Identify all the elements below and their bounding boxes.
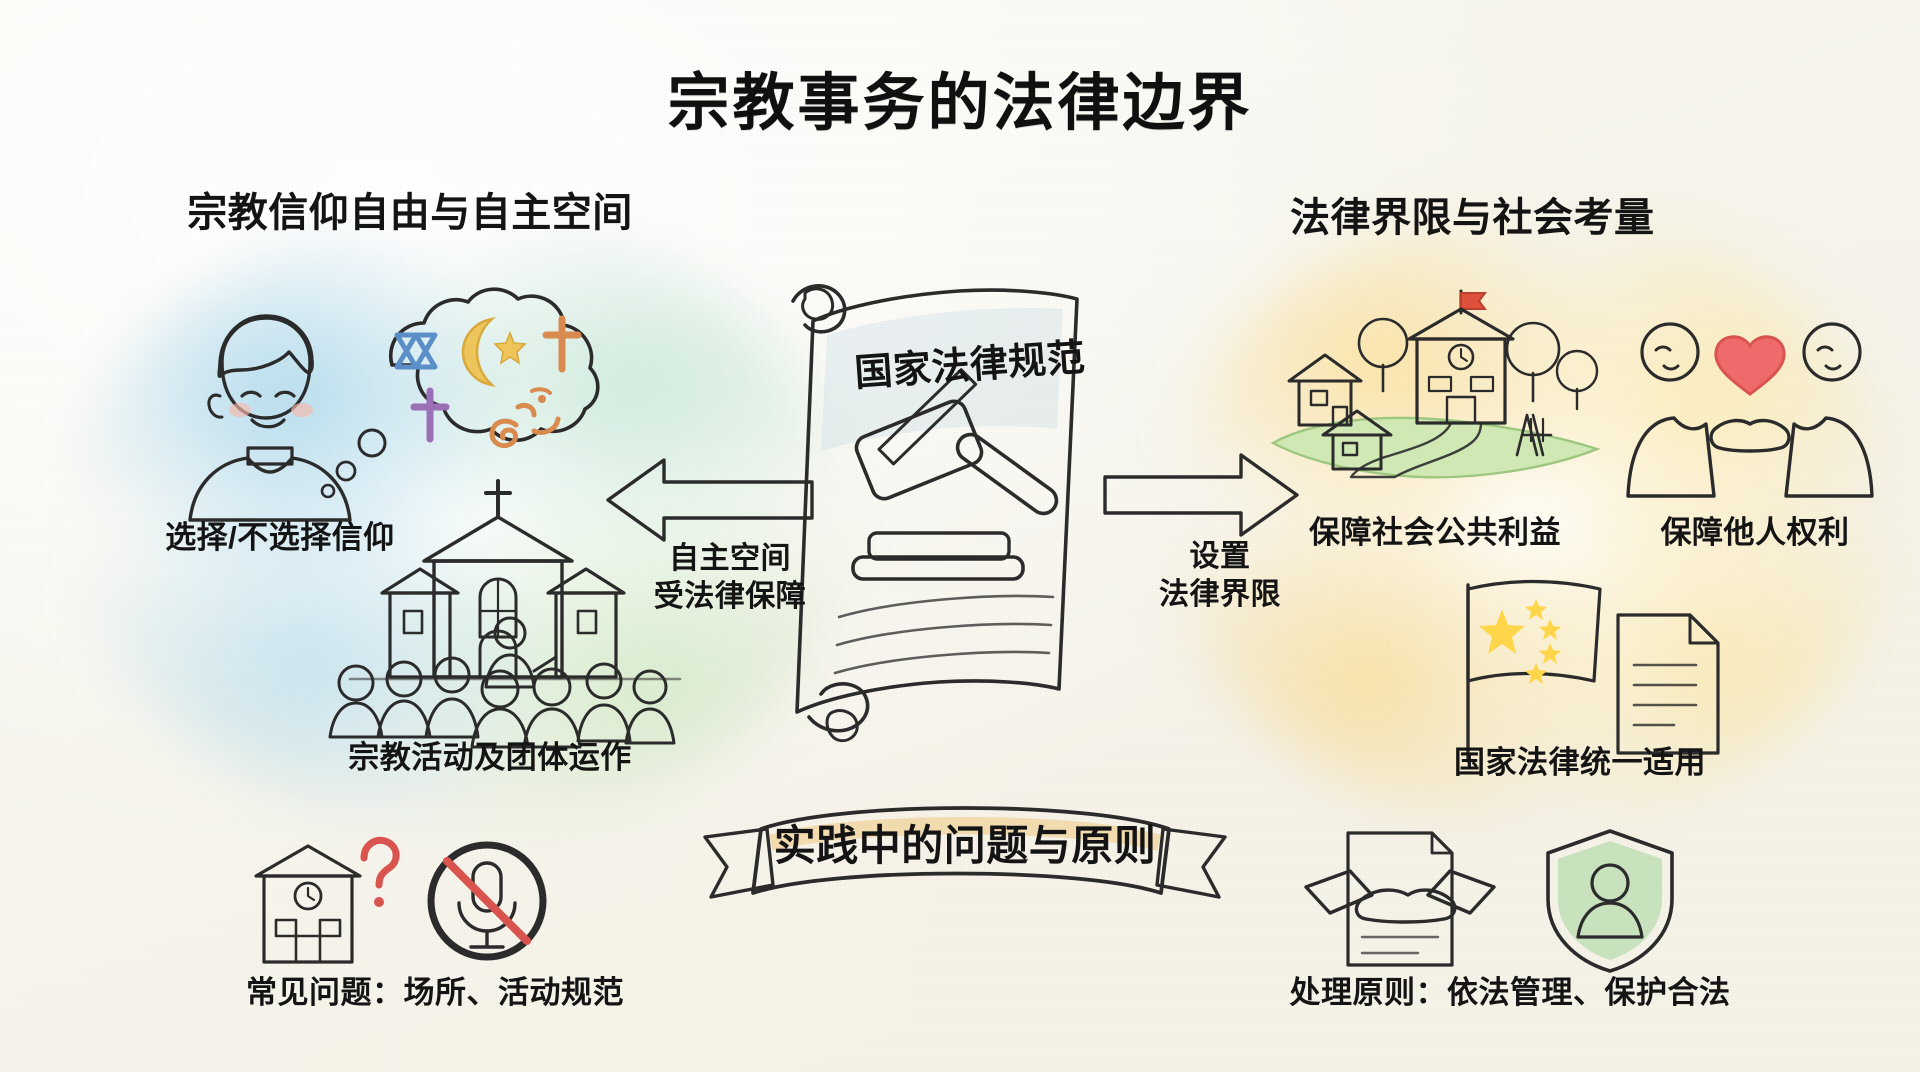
tree-icon-3 [1557, 351, 1597, 409]
congregation-group [330, 658, 674, 747]
left-arrow-label: 自主空间 受法律保障 [630, 540, 830, 615]
infographic-canvas: 宗教事务的法律边界 宗教信仰自由与自主空间 法律界限与社会考量 [0, 0, 1920, 1072]
heart-icon [1716, 337, 1784, 394]
banner-label: 实践中的问题与原则 [720, 822, 1210, 870]
question-mark-icon [364, 840, 396, 907]
handshake-heart-icon [1620, 310, 1880, 500]
om-icon [492, 389, 558, 445]
shield-person-icon [1530, 825, 1690, 975]
bottom-right-caption: 处理原则：依法管理、保护合法 [1250, 975, 1770, 1011]
cross-icon-2 [414, 391, 446, 439]
star-of-david-icon [397, 335, 435, 367]
national-flag-document-icon [1440, 575, 1740, 765]
building-question-icon [230, 830, 410, 970]
bottom-left-caption: 常见问题：场所、活动规范 [195, 975, 675, 1011]
crescent-moon-icon [463, 319, 492, 385]
tree-icon [1359, 319, 1407, 391]
left-arrow-label-line1: 自主空间 [669, 542, 791, 575]
no-microphone-icon [415, 835, 565, 975]
right-item-0-label: 保障社会公共利益 [1255, 515, 1615, 551]
handshake-document-icon [1300, 825, 1500, 975]
left-item-1-label: 宗教活动及团体运作 [290, 740, 690, 776]
right-item-2-label: 国家法律统一适用 [1400, 745, 1760, 781]
left-arrow-label-line2: 受法律保障 [654, 580, 807, 613]
document-icon [1618, 615, 1718, 753]
left-panel-heading: 宗教信仰自由与自主空间 [150, 190, 670, 236]
right-arrow-label-line1: 设置 [1190, 540, 1251, 573]
right-arrow-label-line2: 法律界限 [1159, 578, 1281, 611]
school-community-icon [1265, 285, 1605, 495]
tree-icon-2 [1507, 323, 1559, 401]
right-panel-heading: 法律界限与社会考量 [1290, 195, 1810, 241]
school-building-icon [1409, 291, 1513, 423]
star-icon [495, 333, 525, 363]
page-title: 宗教事务的法律边界 [0, 52, 1920, 142]
left-arrow [600, 455, 820, 545]
right-item-1-label: 保障他人权利 [1600, 515, 1910, 551]
